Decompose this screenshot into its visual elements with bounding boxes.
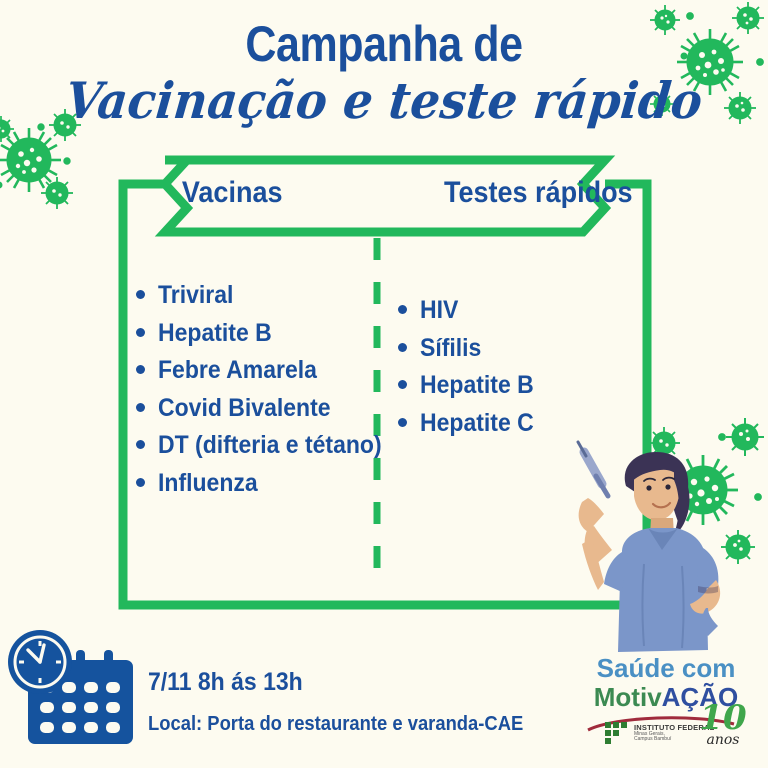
event-info: 7/11 8h ás 13h Local: Porta do restauran… <box>148 668 548 736</box>
list-item: Hepatite B <box>136 321 386 347</box>
test-label: Sífilis <box>420 336 481 362</box>
bullet-icon <box>136 290 145 299</box>
header-vacinas: Vacinas <box>119 176 376 218</box>
syringe-icon <box>578 442 608 496</box>
campaign-logo: Saúde com MotivAÇÃO INSTITUTO FEDERAL Mi… <box>576 655 756 765</box>
bullet-icon <box>136 440 145 449</box>
vaccine-label: Febre Amarela <box>158 358 317 384</box>
vaccines-list: Triviral Hepatite B Febre Amarela Covid … <box>136 283 386 508</box>
nurse-illustration <box>548 440 748 680</box>
clock-icon <box>8 630 72 694</box>
bullet-icon <box>136 403 145 412</box>
poster-canvas: Campanha de Vacinação e teste rápido Vac… <box>0 0 768 768</box>
badge-number: 10 <box>692 703 754 734</box>
vaccine-label: DT (difteria e tétano) <box>158 433 382 459</box>
vaccine-label: Triviral <box>158 283 233 309</box>
list-item: HIV <box>398 298 618 324</box>
list-item: Triviral <box>136 283 386 309</box>
date-time-icons <box>4 626 144 756</box>
list-item: Febre Amarela <box>136 358 386 384</box>
bullet-icon <box>136 478 145 487</box>
list-item: Hepatite C <box>398 411 618 437</box>
bullet-icon <box>398 418 407 427</box>
logo-motiv-text: Motiv <box>594 682 662 712</box>
bullet-icon <box>136 328 145 337</box>
tests-list: HIV Sífilis Hepatite B Hepatite C <box>398 298 618 448</box>
title-line-1: Campanha de <box>54 18 714 71</box>
bullet-icon <box>398 380 407 389</box>
bullet-icon <box>398 305 407 314</box>
vaccine-label: Hepatite B <box>158 321 272 347</box>
test-label: Hepatite C <box>420 411 534 437</box>
if-mark-icon <box>604 721 630 745</box>
list-item: Sífilis <box>398 336 618 362</box>
bullet-icon <box>136 365 145 374</box>
logo-saude-com: Saúde com <box>576 655 756 681</box>
test-label: Hepatite B <box>420 373 534 399</box>
title-line-2: Vacinação e teste rápido <box>24 73 744 128</box>
anniversary-badge: 10 anos <box>692 703 754 761</box>
list-item: Hepatite B <box>398 373 618 399</box>
event-date-time: 7/11 8h ás 13h <box>148 668 516 697</box>
list-item: DT (difteria e tétano) <box>136 433 386 459</box>
vaccine-label: Covid Bivalente <box>158 396 331 422</box>
list-item: Influenza <box>136 471 386 497</box>
header-testes-rapidos: Testes rápidos <box>404 176 652 218</box>
bullet-icon <box>398 343 407 352</box>
column-headers: Vacinas Testes rápidos <box>105 176 665 218</box>
vaccine-label: Influenza <box>158 471 258 497</box>
event-location: Local: Porta do restaurante e varanda-CA… <box>148 713 516 736</box>
list-item: Covid Bivalente <box>136 396 386 422</box>
poster-title: Campanha de Vacinação e teste rápido <box>0 18 768 128</box>
test-label: HIV <box>420 298 458 324</box>
